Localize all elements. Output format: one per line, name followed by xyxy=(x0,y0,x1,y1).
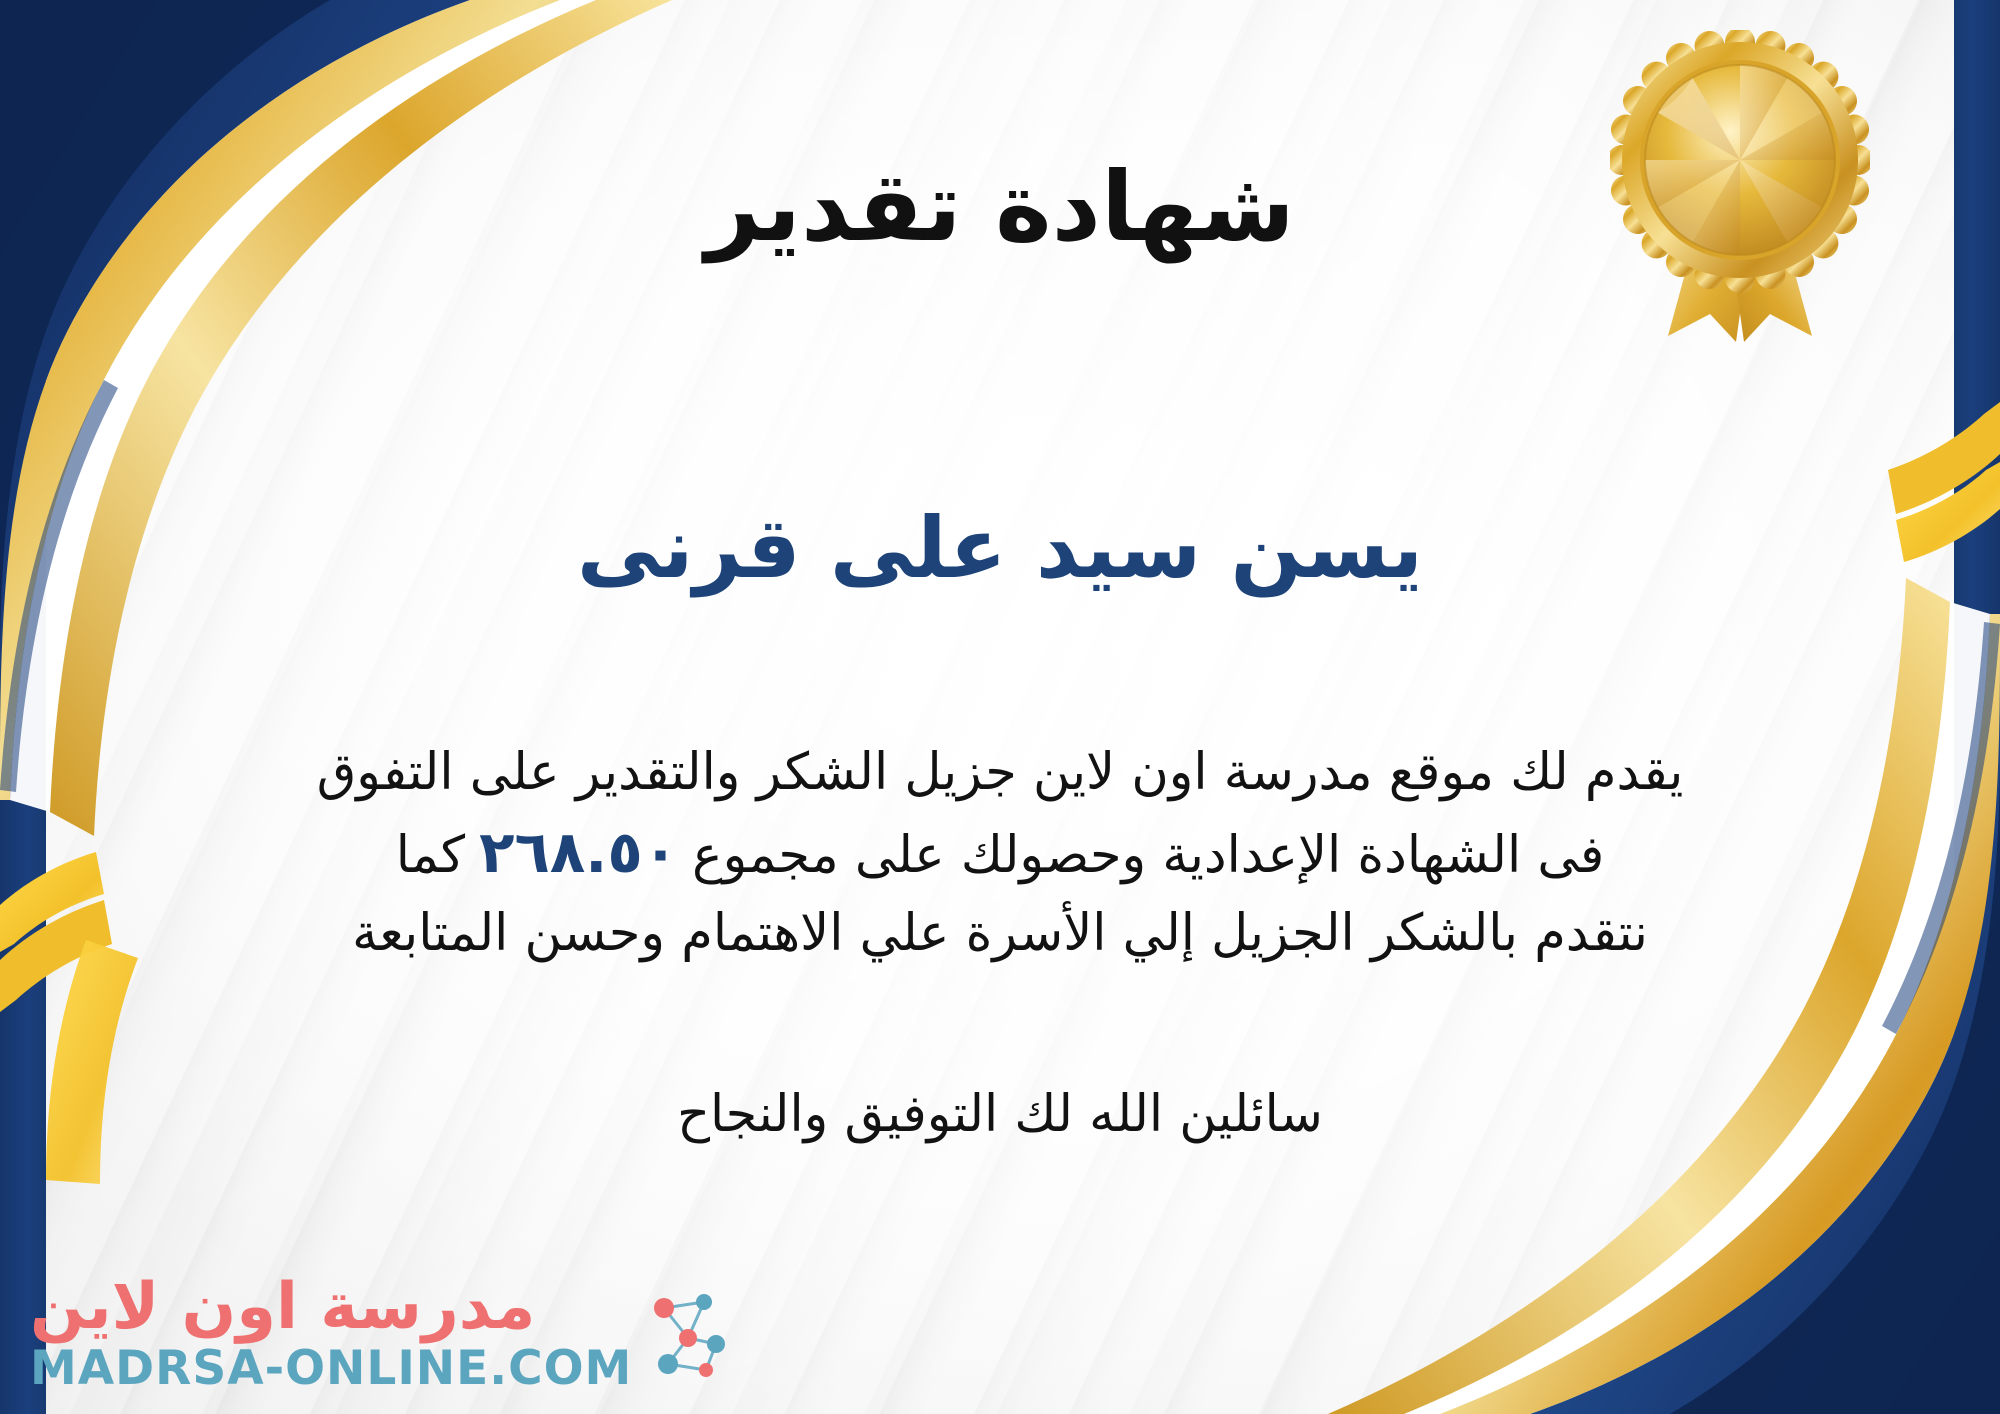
body-line-2-before: فى الشهادة الإعدادية وحصولك على مجموع xyxy=(692,826,1604,885)
body-line-2: فى الشهادة الإعدادية وحصولك على مجموع٢٦٨… xyxy=(70,810,1930,896)
body-line-1: يقدم لك موقع مدرسة اون لاين جزيل الشكر و… xyxy=(70,735,1930,810)
grade-value: ٢٦٨.٥٠ xyxy=(465,818,692,886)
navy-right-border xyxy=(1954,0,2000,1414)
certificate-canvas: شهادة تقدير يسن سيد على قرنى يقدم لك موق… xyxy=(0,0,2000,1414)
brand-wordmark: مدرسة اون لاين MADRSA-ONLINE.COM xyxy=(30,1275,632,1392)
brand-arabic-name: مدرسة اون لاين xyxy=(30,1275,535,1339)
body-line-2-after: كما xyxy=(396,826,465,885)
page-title: شهادة تقدير xyxy=(70,155,1930,261)
recipient-name: يسن سيد على قرنى xyxy=(70,500,1930,597)
body-line-3: نتقدم بالشكر الجزيل إلي الأسرة علي الاهت… xyxy=(70,896,1930,971)
certificate-content: شهادة تقدير يسن سيد على قرنى يقدم لك موق… xyxy=(70,0,1930,1414)
brand-website: MADRSA-ONLINE.COM xyxy=(30,1345,632,1392)
closing-text: سائلين الله لك التوفيق والنجاح xyxy=(70,1085,1930,1144)
certificate-body: يقدم لك موقع مدرسة اون لاين جزيل الشكر و… xyxy=(70,735,1930,972)
network-nodes-icon xyxy=(642,1286,734,1382)
navy-left-border xyxy=(0,0,46,1414)
brand-logo[interactable]: مدرسة اون لاين MADRSA-ONLINE.COM xyxy=(30,1275,734,1392)
